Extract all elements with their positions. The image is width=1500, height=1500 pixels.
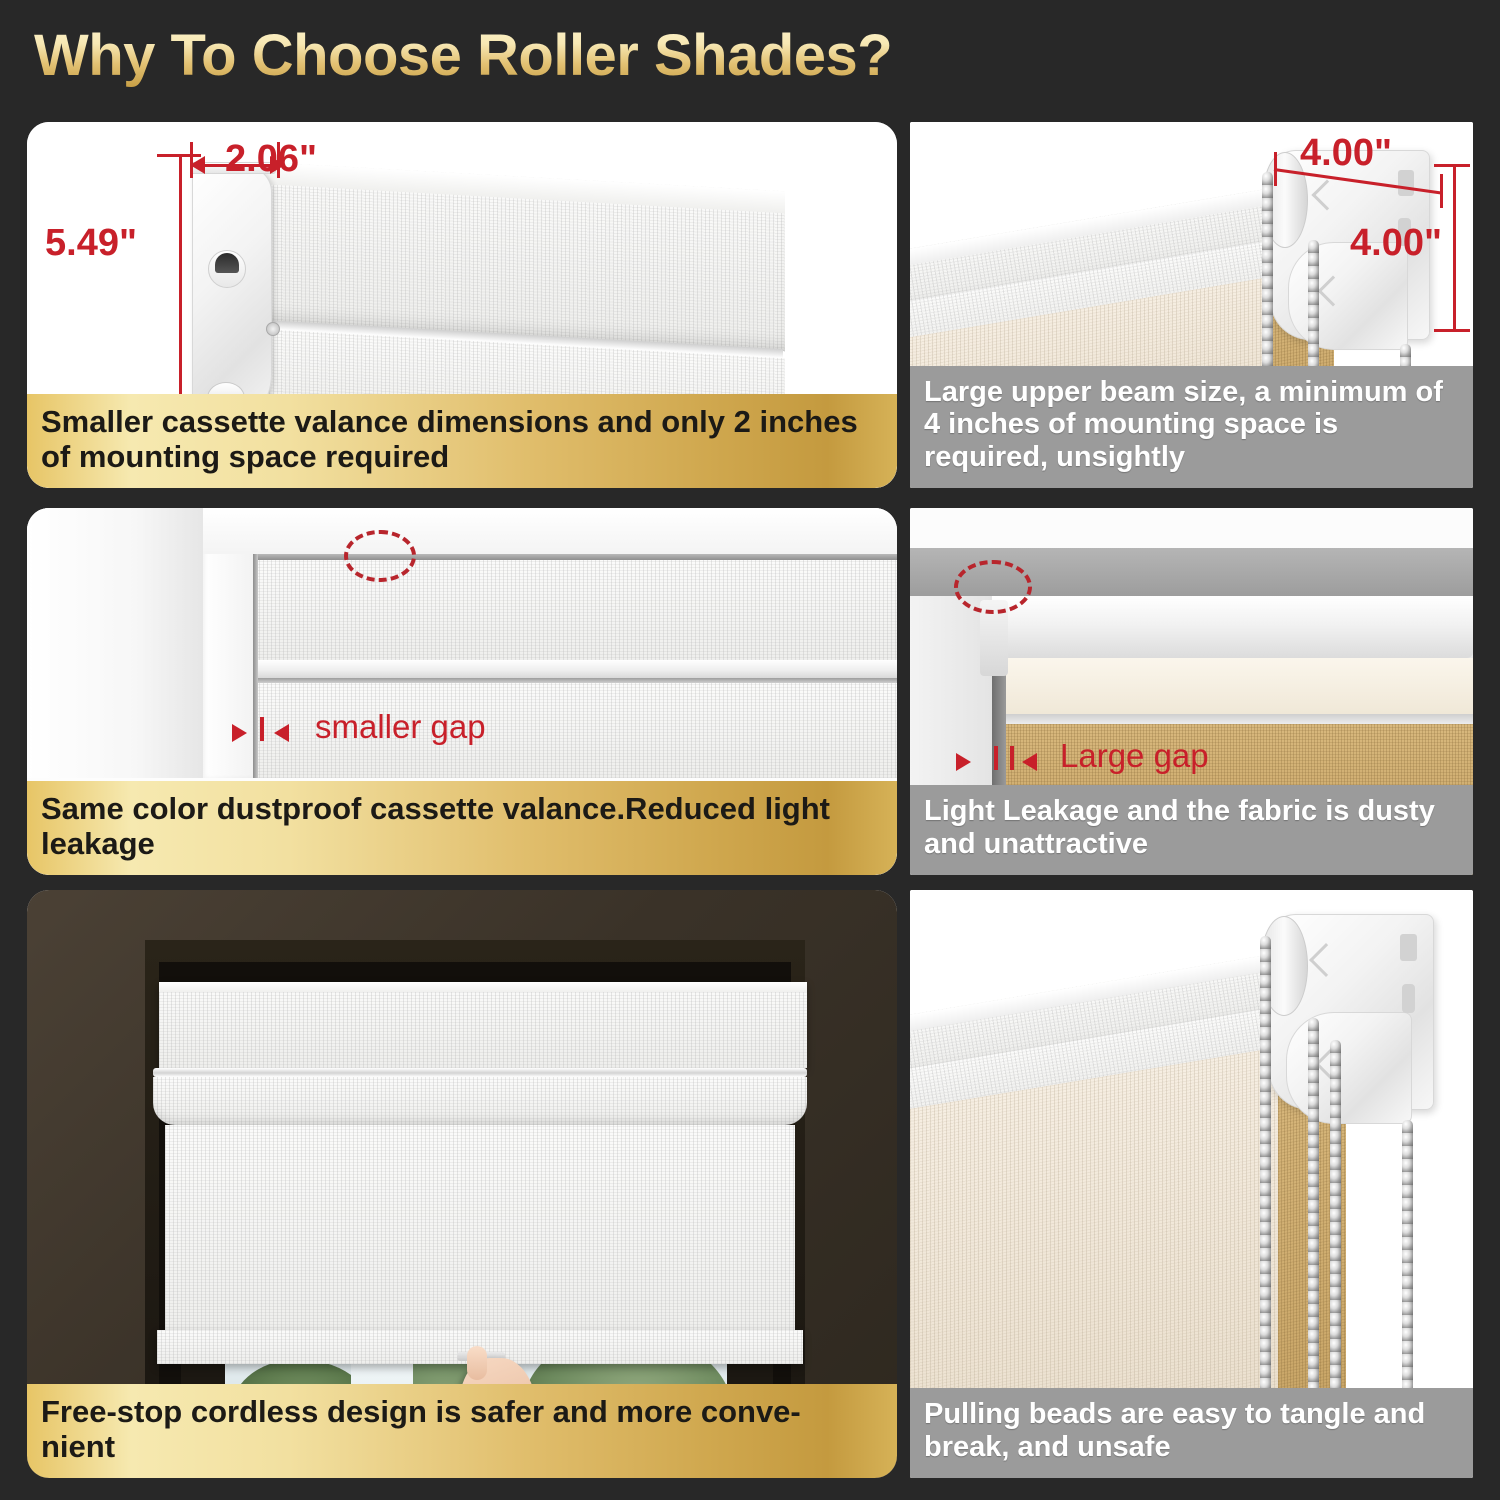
window-frame-top [203, 508, 897, 554]
finger-graphic [467, 1346, 487, 1380]
panel-pulling-beads: Pulling beads are easy to tangle and bre… [910, 890, 1473, 1478]
cream-fabric-band [998, 658, 1473, 718]
page-title: Why To Choose Roller Shades? [34, 22, 892, 89]
fabric-band-shadow [998, 714, 1473, 724]
panel-caption-dustproof-cassette-valance: Same color dustproof cassette valance.Re… [27, 781, 897, 875]
bracket-slot-top [1398, 170, 1414, 196]
headrail-highlight [159, 982, 807, 992]
width-dimension-label: 2.06" [225, 138, 317, 181]
panel-large-upper-beam: 4.00" 4.00" Large upper beam size, a min… [910, 122, 1473, 488]
screw-icon [266, 322, 280, 336]
beam-height-tick-bottom [1434, 329, 1470, 332]
panel-light-leakage: Large gap Light Leakage and the fabric i… [910, 508, 1473, 875]
width-dim-arrow-left [190, 156, 205, 174]
height-dim-tick-top [157, 154, 201, 157]
cassette-valance-face [255, 560, 897, 664]
panel-dustproof-cassette-valance: smaller gap Same color dustproof cassett… [27, 508, 897, 875]
window-frame-left [27, 508, 203, 778]
panel-caption-light-leakage: Light Leakage and the fabric is dusty an… [910, 785, 1473, 875]
panel-caption-large-upper-beam: Large upper beam size, a minimum of 4 in… [910, 366, 1473, 488]
panel-free-stop-cordless: Free-stop cordless design is safer and m… [27, 890, 897, 1478]
beam-width-tick-left [1274, 152, 1277, 186]
gap-highlight-ellipse [344, 530, 416, 582]
gap-bar [260, 717, 264, 741]
gap-edge-line [253, 554, 258, 778]
large-gap-arrow-right [956, 753, 971, 771]
headrail-seam [153, 1068, 807, 1077]
shade-fabric-panel [165, 1125, 795, 1337]
large-gap-arrow-left [1022, 753, 1037, 771]
infographic-root: Why To Choose Roller Shades? [0, 0, 1500, 1500]
panel-caption-free-stop-cordless: Free-stop cordless design is safer and m… [27, 1384, 897, 1478]
beads-bracket-slot-mid [1402, 984, 1415, 1013]
smaller-gap-label: smaller gap [315, 708, 486, 746]
gap-arrow-left [274, 724, 289, 742]
valance-lower-roll [153, 1077, 807, 1125]
valance-bottom-lip [255, 660, 897, 678]
panel-caption-smaller-cassette-valance: Smaller cassette valance dimensions and … [27, 394, 897, 488]
height-dimension-label: 5.49" [45, 222, 137, 265]
beads-bracket-slot-top [1400, 934, 1417, 961]
large-gap-bar-outer [1010, 746, 1014, 770]
valance-headrail [159, 982, 807, 1068]
beam-width-tick-right [1440, 174, 1443, 208]
beam-height-dimension-label: 4.00" [1350, 222, 1442, 265]
gap-arrow-right [232, 724, 247, 742]
beam-height-tick-top [1434, 164, 1470, 167]
large-gap-bar-inner [994, 746, 998, 770]
large-gap-highlight-ellipse [954, 560, 1032, 614]
beam-width-dimension-label: 4.00" [1300, 132, 1392, 175]
roller-mechanism-slot [215, 253, 239, 273]
beam-height-dim-line [1453, 164, 1456, 332]
white-roller-tube [974, 596, 1473, 658]
panel-caption-pulling-beads: Pulling beads are easy to tangle and bre… [910, 1388, 1473, 1478]
panel-smaller-cassette-valance: 2.06" 5.49" Smaller cassette valance dim… [27, 122, 897, 488]
large-gap-label: Large gap [1060, 737, 1209, 775]
beads-bracket-lower-lobe [1286, 1012, 1412, 1124]
wall-strip [910, 508, 1473, 548]
